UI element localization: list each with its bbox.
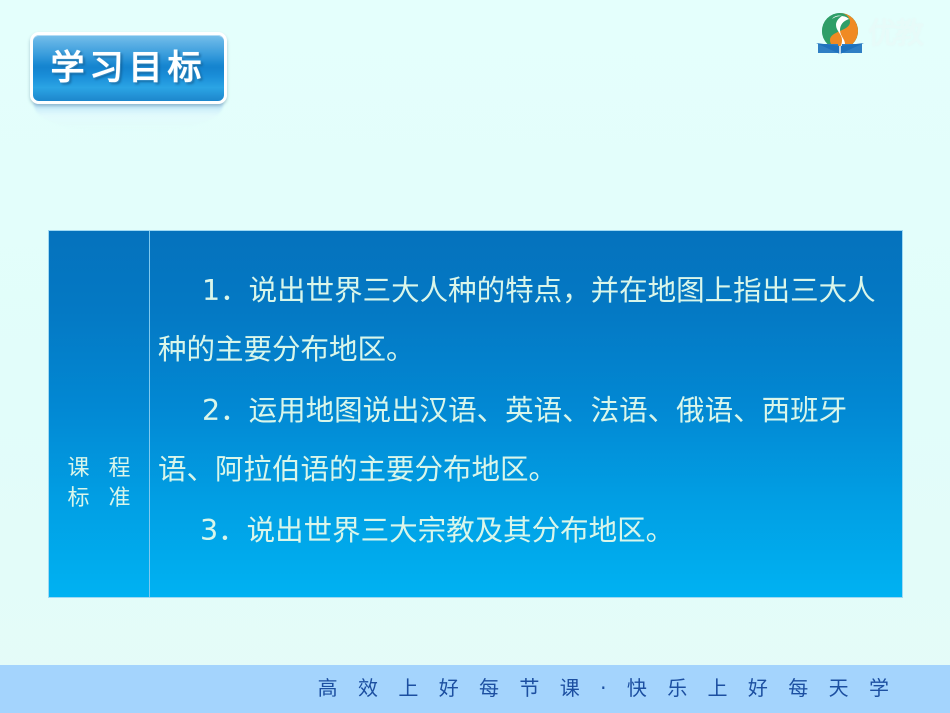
title-badge-label: 学习目标 [33,35,224,101]
objective-item-3: 3．说出世界三大宗教及其分布地区。 [158,501,884,560]
footer-slogan: 高 效 上 好 每 节 课 · 快 乐 上 好 每 天 学 [318,671,896,705]
brand-logo: 优教 [796,6,944,62]
objective-item-1: 1．说出世界三大人种的特点，并在地图上指出三大人种的主要分布地区。 [158,261,884,379]
objectives-box: 课 程 标 准 1．说出世界三大人种的特点，并在地图上指出三大人种的主要分布地区… [48,230,903,598]
objective-item-2: 2．运用地图说出汉语、英语、法语、俄语、西班牙语、阿拉伯语的主要分布地区。 [158,381,884,499]
row-label-line-1: 课 程 [62,454,137,484]
row-label-line-2: 标 准 [62,484,137,514]
title-badge-reflection [34,102,223,132]
objectives-row-label: 课 程 标 准 [49,231,150,597]
title-badge: 学习目标 [30,32,227,114]
footer-band: 高 效 上 好 每 节 课 · 快 乐 上 好 每 天 学 [0,665,950,713]
title-badge-button[interactable]: 学习目标 [30,32,227,104]
objectives-list: 1．说出世界三大人种的特点，并在地图上指出三大人种的主要分布地区。 2．运用地图… [150,231,902,597]
brand-wordmark: 优教 [868,16,942,50]
swirl-book-logo-icon [814,10,866,58]
slide-canvas: 优教 学习目标 课 程 标 准 1．说出世界三大人种的特点，并在地图上指出三大人… [0,0,950,713]
